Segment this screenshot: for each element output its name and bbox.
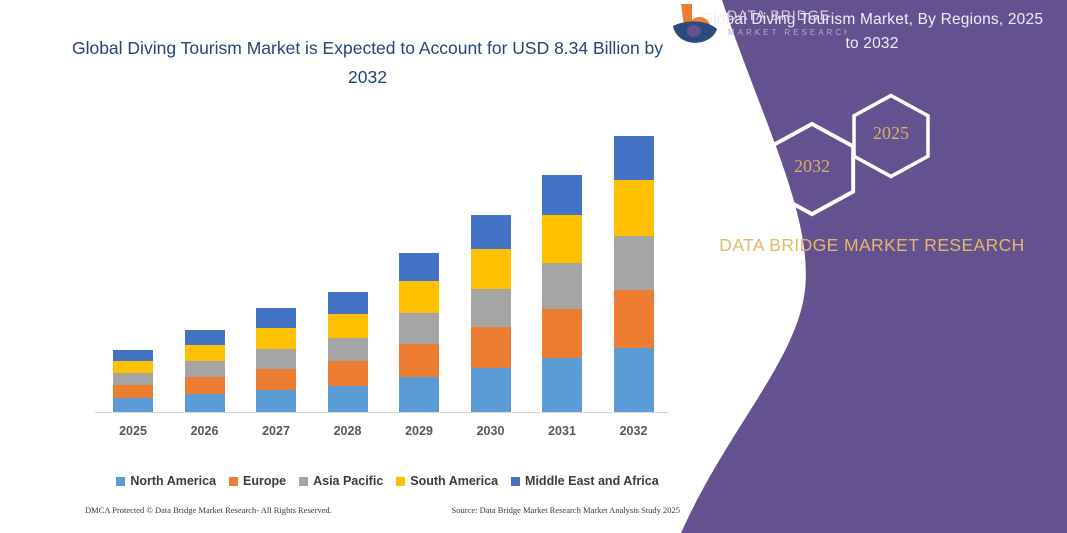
legend-label: North America	[130, 474, 216, 488]
hexagon-2025: 2025	[847, 92, 935, 180]
bar-group[interactable]	[542, 175, 582, 412]
bar-segment[interactable]	[113, 398, 153, 412]
bar-segment[interactable]	[113, 361, 153, 373]
bar-segment[interactable]	[328, 314, 368, 338]
bar-segment[interactable]	[471, 327, 511, 368]
footer-copyright: DMCA Protected © Data Bridge Market Rese…	[85, 505, 332, 515]
bar-segment[interactable]	[471, 249, 511, 289]
legend-item[interactable]: Asia Pacific	[299, 474, 383, 488]
bar-segment[interactable]	[113, 373, 153, 385]
bar-group[interactable]	[471, 215, 511, 412]
bar-segment[interactable]	[185, 361, 225, 377]
bar-segment[interactable]	[399, 281, 439, 313]
bar-group[interactable]	[614, 136, 654, 412]
bar-segment[interactable]	[471, 368, 511, 412]
bar-segment[interactable]	[614, 348, 654, 412]
brand-panel: Global Diving Tourism Market, By Regions…	[667, 0, 1067, 533]
bar-segment[interactable]	[614, 136, 654, 180]
bar-segment[interactable]	[328, 292, 368, 314]
legend-swatch-icon	[299, 477, 308, 486]
hexagon-badges: 2032 2025	[747, 92, 1027, 207]
x-axis-tick-label: 2025	[103, 424, 163, 438]
bar-group[interactable]	[399, 253, 439, 412]
bar-segment[interactable]	[471, 215, 511, 249]
bar-segment[interactable]	[113, 350, 153, 361]
footer: DMCA Protected © Data Bridge Market Rese…	[85, 505, 680, 521]
legend-label: Middle East and Africa	[525, 474, 659, 488]
legend-swatch-icon	[396, 477, 405, 486]
bar-segment[interactable]	[471, 289, 511, 327]
chart-legend: North AmericaEuropeAsia PacificSouth Ame…	[95, 472, 680, 490]
legend-item[interactable]: Middle East and Africa	[511, 474, 659, 488]
x-axis-tick-label: 2026	[175, 424, 235, 438]
bar-segment[interactable]	[614, 290, 654, 348]
bar-segment[interactable]	[614, 236, 654, 290]
legend-label: Europe	[243, 474, 286, 488]
bar-segment[interactable]	[542, 263, 582, 309]
x-axis-tick-label: 2029	[389, 424, 449, 438]
bar-chart	[95, 100, 680, 415]
bar-segment[interactable]	[185, 394, 225, 412]
bar-group[interactable]	[185, 330, 225, 412]
logo-line2: MARKET RESEARCH	[728, 28, 847, 37]
bar-group[interactable]	[113, 350, 153, 412]
data-bridge-logo: DATA BRIDGE MARKET RESEARCH	[667, 0, 847, 48]
bar-segment[interactable]	[185, 330, 225, 345]
bar-group[interactable]	[256, 308, 296, 412]
bar-segment[interactable]	[542, 215, 582, 263]
x-axis-tick-label: 2030	[461, 424, 521, 438]
x-axis-tick-label: 2032	[604, 424, 664, 438]
x-axis-labels: 20252026202720282029203020312032	[95, 424, 680, 444]
bar-segment[interactable]	[256, 369, 296, 390]
footer-source: Source: Data Bridge Market Research Mark…	[451, 505, 680, 515]
bar-segment[interactable]	[328, 338, 368, 361]
bar-segment[interactable]	[542, 358, 582, 412]
bar-segment[interactable]	[542, 309, 582, 358]
legend-label: Asia Pacific	[313, 474, 383, 488]
x-axis-tick-label: 2027	[246, 424, 306, 438]
bar-group[interactable]	[328, 292, 368, 412]
x-axis-tick-label: 2028	[318, 424, 378, 438]
bar-segment[interactable]	[614, 180, 654, 236]
infographic-root: Global Diving Tourism Market is Expected…	[0, 0, 1067, 533]
bar-segment[interactable]	[399, 313, 439, 344]
logo-line1: DATA BRIDGE	[727, 7, 830, 23]
legend-item[interactable]: Europe	[229, 474, 286, 488]
bar-segment[interactable]	[399, 253, 439, 281]
bar-segment[interactable]	[113, 385, 153, 398]
bar-segment[interactable]	[399, 344, 439, 377]
logo-mark	[673, 4, 717, 43]
legend-label: South America	[410, 474, 498, 488]
legend-item[interactable]: South America	[396, 474, 498, 488]
legend-swatch-icon	[229, 477, 238, 486]
bar-segment[interactable]	[542, 175, 582, 215]
bar-segment[interactable]	[185, 377, 225, 394]
bar-segment[interactable]	[328, 386, 368, 412]
legend-swatch-icon	[511, 477, 520, 486]
legend-swatch-icon	[116, 477, 125, 486]
x-axis-tick-label: 2031	[532, 424, 592, 438]
bar-segment[interactable]	[256, 328, 296, 349]
bar-series-container	[95, 100, 680, 412]
bar-segment[interactable]	[185, 345, 225, 361]
bar-segment[interactable]	[399, 377, 439, 412]
page-title: Global Diving Tourism Market is Expected…	[60, 34, 675, 92]
brand-name: DATA BRIDGE MARKET RESEARCH	[707, 232, 1037, 259]
bar-segment[interactable]	[256, 349, 296, 369]
legend-item[interactable]: North America	[116, 474, 216, 488]
bar-segment[interactable]	[256, 390, 296, 412]
bar-segment[interactable]	[328, 361, 368, 386]
hexagon-2025-label: 2025	[847, 123, 935, 144]
bar-segment[interactable]	[256, 308, 296, 328]
